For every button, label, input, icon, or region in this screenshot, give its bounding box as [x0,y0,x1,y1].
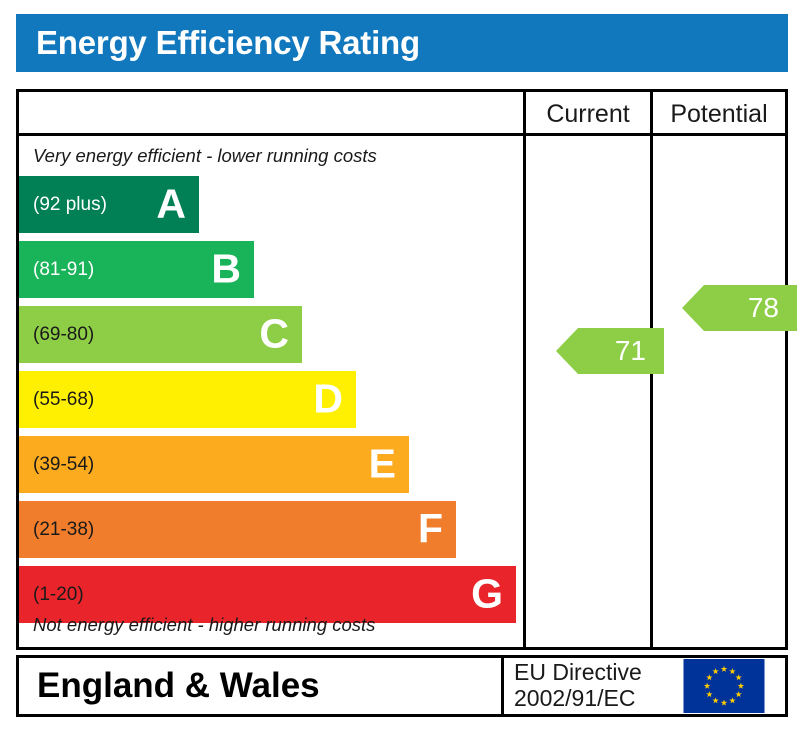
eu-directive-box: EU Directive 2002/91/EC [504,655,788,717]
eu-directive-line-2: 2002/91/EC [514,686,642,712]
rating-bar-range-b: (81-91) [19,259,94,281]
rating-marker-value-current: 71 [615,335,646,367]
eu-directive-text: EU Directive 2002/91/EC [514,660,642,712]
chart-footer: England & Wales EU Directive 2002/91/EC [16,655,788,739]
rating-bar-range-c: (69-80) [19,324,94,346]
page-title: Energy Efficiency Rating [16,24,420,62]
rating-bar-letter-e: E [369,443,396,484]
caption-very-efficient: Very energy efficient - lower running co… [33,145,377,167]
caption-not-efficient: Not energy efficient - higher running co… [33,614,375,636]
region-box: England & Wales [16,655,504,717]
rating-marker-value-potential: 78 [748,292,779,324]
table-header-row: Current Potential [19,92,785,136]
rating-bar-letter-a: A [156,183,186,224]
rating-bar-letter-g: G [471,573,503,614]
rating-bar-letter-b: B [211,248,241,289]
rating-bar-c: (69-80)C [19,306,302,363]
rating-bar-range-d: (55-68) [19,389,94,411]
rating-bar-e: (39-54)E [19,436,409,493]
energy-efficiency-rating-chart: Energy Efficiency Rating Current Potenti… [0,0,804,753]
chart-title-bar: Energy Efficiency Rating [16,14,788,72]
eu-directive-line-1: EU Directive [514,660,642,686]
eu-flag-icon [669,659,779,713]
rating-bar-letter-c: C [259,313,289,354]
column-header-current: Current [526,92,650,136]
rating-bar-a: (92 plus)A [19,176,199,233]
rating-bar-range-f: (21-38) [19,519,94,541]
rating-bar-range-g: (1-20) [19,584,84,606]
rating-bar-b: (81-91)B [19,241,254,298]
rating-bar-letter-f: F [418,508,443,549]
table-body: Very energy efficient - lower running co… [19,136,785,650]
rating-marker-potential: 78 [682,285,797,331]
rating-bar-range-a: (92 plus) [19,194,107,216]
rating-bar-d: (55-68)D [19,371,356,428]
rating-bar-letter-d: D [313,378,343,419]
rating-table: Current Potential Very energy efficient … [16,89,788,650]
rating-bar-f: (21-38)F [19,501,456,558]
rating-bar-range-e: (39-54) [19,454,94,476]
rating-marker-current: 71 [556,328,664,374]
column-header-potential: Potential [653,92,785,136]
region-label: England & Wales [19,666,320,706]
